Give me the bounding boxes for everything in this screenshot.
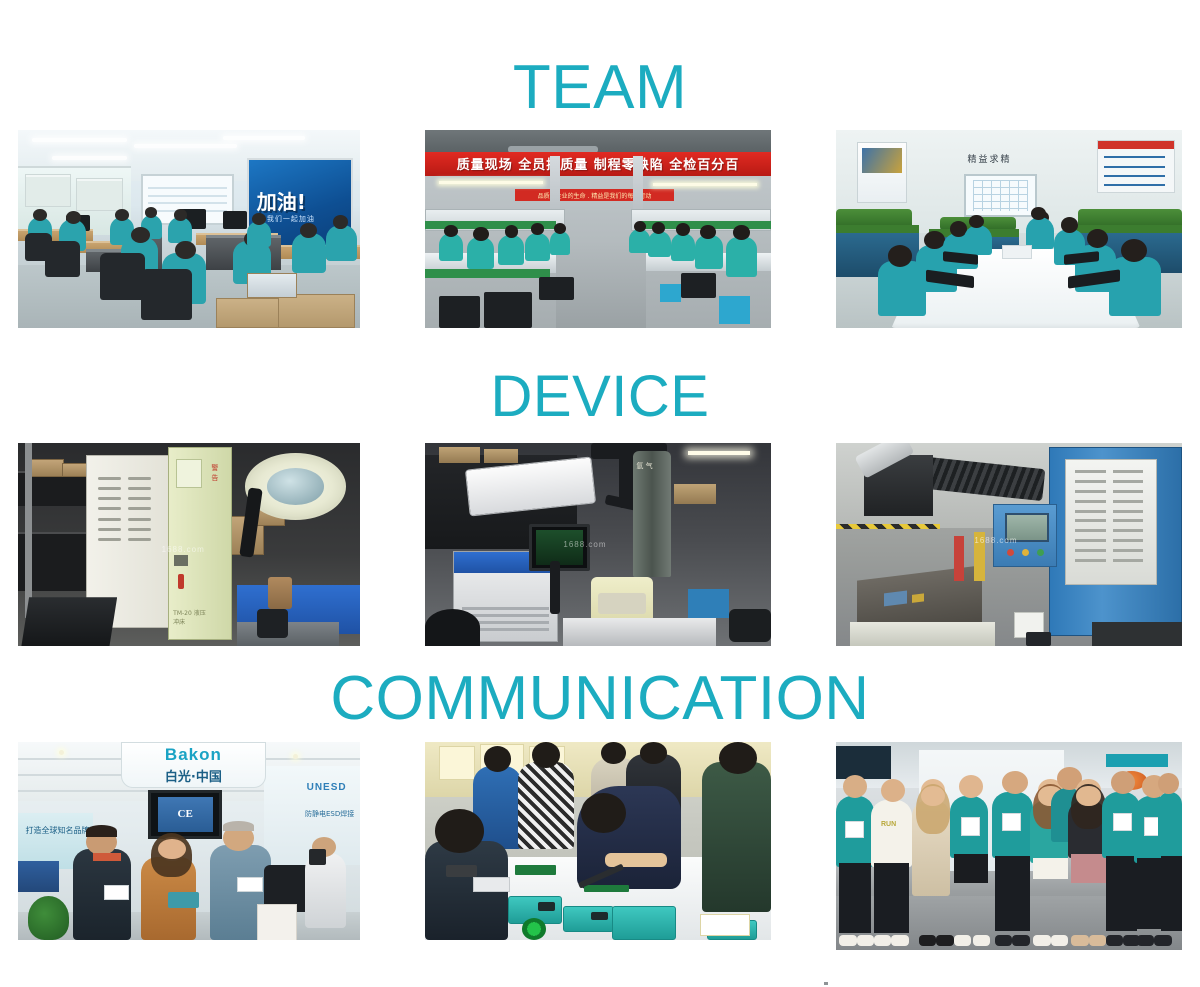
photo-device-laser[interactable]: 氩 气 1688.com 1688.com Laser: [425, 443, 771, 646]
section-heading-device: DEVICE: [0, 368, 1200, 426]
photo-team-factory[interactable]: 质量现场 全员控质量 制程零缺陷 全检百分百 品质是企业的生命 . 精益是我们的…: [425, 130, 771, 328]
section-heading-communication: COMMUNICATION: [0, 668, 1200, 730]
heading-text-device: DEVICE: [0, 368, 1200, 426]
booth-left-cn-text: 打造全球知名品牌: [26, 825, 90, 836]
booth-brand-label: Bakon: [165, 745, 222, 765]
photo-device-press[interactable]: 警告 TM-20 液压冲床 1688.com 1688.com Pale gre…: [18, 443, 360, 646]
photo-team-meeting[interactable]: 精益求精: [836, 130, 1182, 328]
heading-text-communication: COMMUNICATION: [0, 668, 1200, 730]
booth-right-brand: UNESD: [307, 782, 347, 793]
booth-right-cn-text: 防静电ESD焊接: [305, 809, 354, 819]
gallery-page: TEAM 加油! 让我们: [0, 0, 1200, 987]
photo-comm-group[interactable]: RUN: [836, 742, 1182, 950]
photo-row-team: 加油! 让我们一起加油: [0, 130, 1200, 328]
booth-brand-cn-label: 白光·中国: [165, 766, 222, 785]
photo-row-device: 警告 TM-20 液压冲床 1688.com 1688.com Pale gre…: [0, 443, 1200, 646]
photo-row-communication: UNESD 防静电ESD焊接 Bakon 白光·中国 CE 打造全球知名品牌: [0, 742, 1200, 950]
page-artifact-dot: [824, 982, 828, 985]
booth-screen-text: CE: [158, 797, 213, 832]
factory-banner-text: 质量现场 全员控质量 制程零缺陷 全检百分百: [457, 154, 740, 173]
photo-comm-booth[interactable]: UNESD 防静电ESD焊接 Bakon 白光·中国 CE 打造全球知名品牌: [18, 742, 360, 940]
photo-team-office[interactable]: 加油! 让我们一起加油: [18, 130, 360, 328]
photo-device-blue[interactable]: 1688.com 1688.com Blue industrial weldin…: [836, 443, 1182, 646]
section-heading-team: TEAM: [0, 57, 1200, 119]
photo-comm-demo[interactable]: Visitors gathered around a white table w…: [425, 742, 771, 940]
heading-text-team: TEAM: [0, 57, 1200, 119]
